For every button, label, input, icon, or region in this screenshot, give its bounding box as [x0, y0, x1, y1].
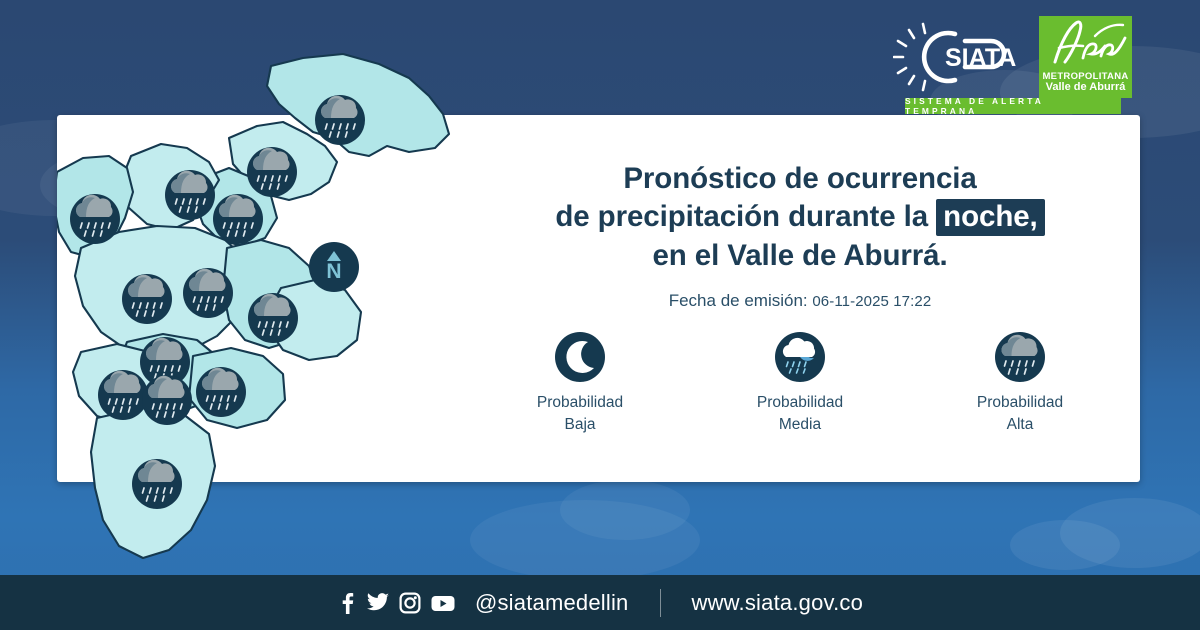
map-marker-medellin[interactable]: [122, 274, 172, 324]
logo-zone: SIATA METROPOLITANA Valle de Aburrá SIST…: [893, 14, 1133, 114]
siata-logo: SIATA: [893, 22, 1033, 92]
map-marker-la-estrella[interactable]: [142, 375, 192, 425]
cloud-moon-rain-icon: [775, 332, 825, 382]
background-cloud-6: [1010, 520, 1120, 570]
twitter-icon[interactable]: [366, 592, 390, 614]
legend-label-alta: Probabilidad Alta: [977, 392, 1063, 437]
moon-icon: [555, 332, 605, 382]
map-marker-san-jeronimo[interactable]: [70, 194, 120, 244]
title-line-2: de precipitación durante la noche,: [470, 198, 1130, 236]
page-title: Pronóstico de ocurrencia de precipitació…: [470, 160, 1130, 275]
alert-system-band: SISTEMA DE ALERTA TEMPRANA: [905, 98, 1121, 114]
background-cloud-8: [560, 480, 690, 540]
legend-alta-line2: Alta: [977, 414, 1063, 436]
emission-date-value: 06-11-2025 17:22: [812, 293, 931, 310]
north-label: N: [326, 260, 341, 283]
probability-legend: Probabilidad Baja Proba: [470, 332, 1130, 437]
valle-de-aburra-map: N: [57, 52, 457, 572]
facebook-icon[interactable]: [337, 592, 357, 614]
cloud-heavy-rain-icon: [995, 332, 1045, 382]
map-marker-copacabana[interactable]: [213, 194, 263, 244]
legend-item-baja[interactable]: Probabilidad Baja: [470, 332, 690, 437]
title-line-2-text: de precipitación durante la: [555, 200, 928, 233]
legend-item-media[interactable]: Probabilidad Media: [690, 332, 910, 437]
footer-bar: @siatamedellin www.siata.gov.co: [0, 575, 1200, 630]
instagram-icon[interactable]: [399, 592, 421, 614]
social-icons: [337, 592, 456, 614]
amva-script-icon: [1039, 16, 1132, 72]
legend-label-media: Probabilidad Media: [757, 392, 843, 437]
emission-date-label: Fecha de emisión:: [669, 291, 808, 310]
website-url[interactable]: www.siata.gov.co: [692, 590, 864, 616]
legend-media-line2: Media: [757, 414, 843, 436]
amva-sublabel: METROPOLITANA Valle de Aburrá: [1039, 72, 1132, 94]
map-marker-san-antonio[interactable]: [183, 268, 233, 318]
siata-logo-text: SIATA: [945, 44, 1016, 72]
map-marker-caldas-norte[interactable]: [196, 367, 246, 417]
legend-baja-line1: Probabilidad: [537, 392, 623, 414]
legend-baja-line2: Baja: [537, 414, 623, 436]
legend-label-baja: Probabilidad Baja: [537, 392, 623, 437]
forecast-info: Pronóstico de ocurrencia de precipitació…: [470, 160, 1130, 311]
legend-item-alta[interactable]: Probabilidad Alta: [910, 332, 1130, 437]
social-handle[interactable]: @siatamedellin: [475, 590, 629, 616]
north-indicator: N: [309, 242, 359, 292]
map-marker-caldas[interactable]: [132, 459, 182, 509]
amva-logo: METROPOLITANA Valle de Aburrá: [1039, 16, 1132, 98]
youtube-icon[interactable]: [430, 592, 456, 614]
map-marker-envigado[interactable]: [248, 293, 298, 343]
map-marker-bello[interactable]: [165, 170, 215, 220]
title-line-1: Pronóstico de ocurrencia: [470, 160, 1130, 198]
amva-line2: Valle de Aburrá: [1039, 82, 1132, 94]
emission-date: Fecha de emisión: 06-11-2025 17:22: [470, 291, 1130, 311]
legend-alta-line1: Probabilidad: [977, 392, 1063, 414]
map-marker-sabaneta[interactable]: [98, 370, 148, 420]
title-line-3: en el Valle de Aburrá.: [470, 237, 1130, 275]
infographic-root: SIATA METROPOLITANA Valle de Aburrá SIST…: [0, 0, 1200, 630]
legend-media-line1: Probabilidad: [757, 392, 843, 414]
footer-divider: [660, 589, 661, 617]
title-highlight-noche: noche,: [936, 199, 1044, 236]
map-marker-girardota[interactable]: [247, 147, 297, 197]
map-marker-barbosa[interactable]: [315, 95, 365, 145]
